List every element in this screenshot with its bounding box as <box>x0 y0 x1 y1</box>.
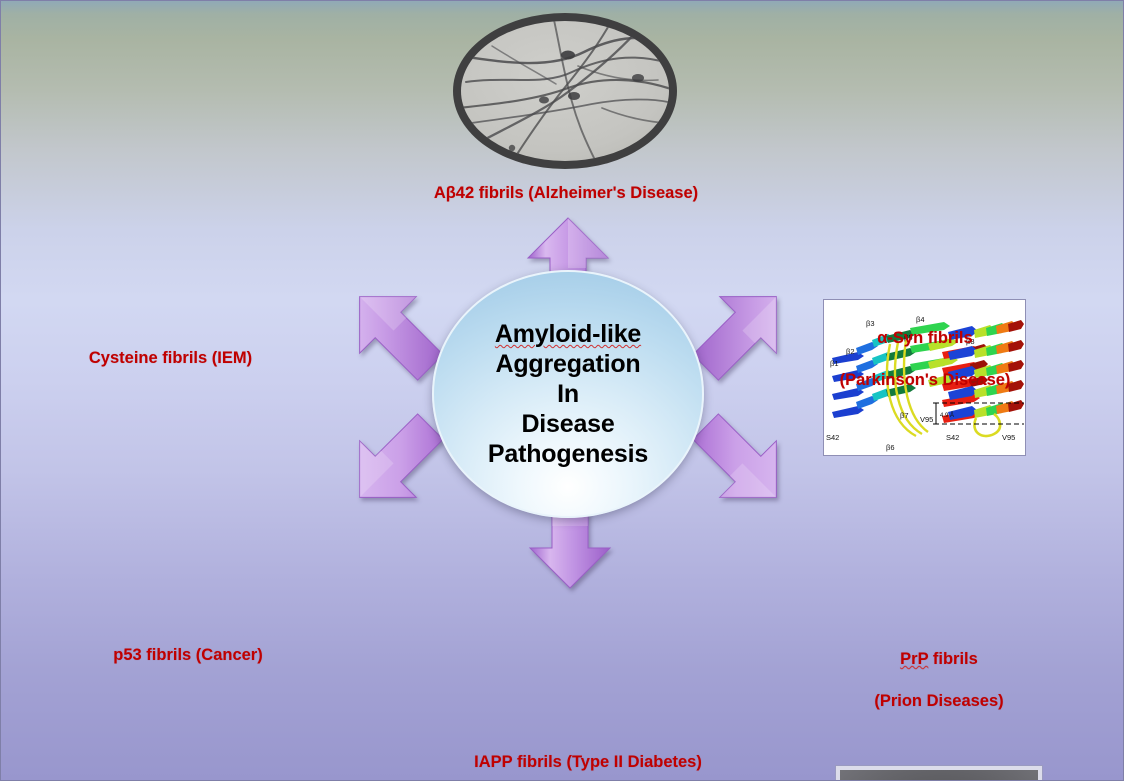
label-alphasyn-line1: α-Syn fibrils <box>812 328 1038 349</box>
center-line-2: Aggregation <box>495 349 640 379</box>
center-ellipse: Amyloid-like Aggregation In Disease Path… <box>432 270 704 518</box>
structure-label-v95-left: V95 <box>920 415 933 424</box>
structure-label-b6: β6 <box>886 443 895 452</box>
label-iapp: IAPP fibrils (Type II Diabetes) <box>418 752 758 773</box>
label-prp-protein: PrP <box>900 650 928 668</box>
amyloid-disease-figure: Amyloid-like Aggregation In Disease Path… <box>0 0 1124 781</box>
label-abeta42: Aβ42 fibrils (Alzheimer's Disease) <box>376 183 756 204</box>
structure-label-s42-left: S42 <box>826 433 839 442</box>
structure-label-b7: β7 <box>900 411 909 420</box>
center-line-4: Disease <box>521 409 614 439</box>
structure-label-spacing: 4.9 Å <box>940 412 954 419</box>
panel-prp-image: 100 nm <box>835 765 1043 781</box>
label-p53: p53 fibrils (Cancer) <box>78 645 298 666</box>
label-alphasyn: α-Syn fibrils (Parkinson's Disease) <box>812 307 1038 412</box>
label-prp-line2: (Prion Diseases) <box>826 691 1052 712</box>
label-prp-suffix: fibrils <box>928 650 978 668</box>
arrow-down-to-iapp <box>520 508 620 590</box>
center-line-5: Pathogenesis <box>488 439 648 469</box>
label-cysteine: Cysteine fibrils (IEM) <box>58 348 283 369</box>
center-line-3: In <box>557 379 579 409</box>
label-prp: PrP fibrils (Prion Diseases) <box>826 628 1052 733</box>
structure-label-s42-right: S42 <box>946 433 959 442</box>
label-alphasyn-line2: (Parkinson's Disease) <box>812 370 1038 391</box>
label-prp-line1: PrP fibrils <box>826 649 1052 670</box>
center-line-1: Amyloid-like <box>495 319 641 349</box>
panel-abeta42-image <box>452 12 678 170</box>
structure-label-v95-right: V95 <box>1002 433 1015 442</box>
